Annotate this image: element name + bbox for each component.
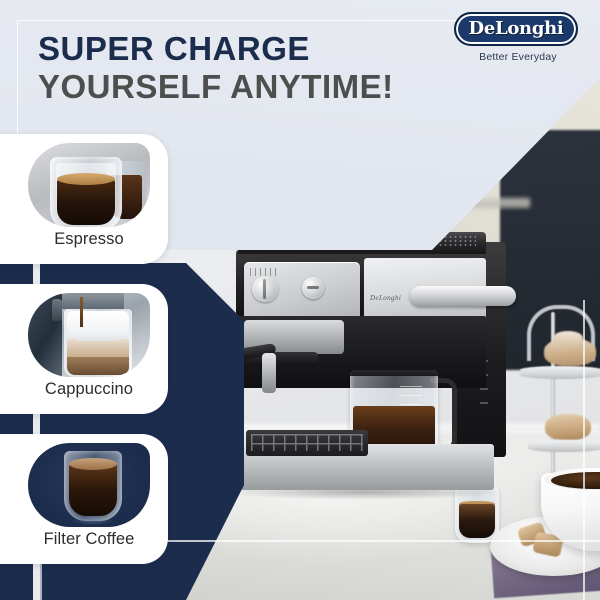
logo-wordmark: DeLonghi xyxy=(469,20,564,38)
power-knob[interactable] xyxy=(302,277,324,299)
espresso-cup-photo xyxy=(28,143,150,227)
coffee-spout xyxy=(52,299,62,321)
espresso-glass xyxy=(50,157,122,227)
filter-coffee-glass-photo xyxy=(28,443,150,527)
brand-logo: DeLonghi Better Everyday xyxy=(454,12,582,63)
steam-wand-tip xyxy=(262,353,276,393)
advertisement-banner: DeLonghi SUPER CHARGE YOURSELF ANYT xyxy=(0,0,600,600)
feature-card-espresso[interactable]: Espresso xyxy=(0,134,168,264)
feature-card-label: Cappuccino xyxy=(28,380,150,399)
frame-line-right xyxy=(583,300,585,600)
pouring-coffee-stream xyxy=(80,297,83,327)
logo-tagline: Better Everyday xyxy=(454,51,582,63)
feature-card-label: Espresso xyxy=(28,230,150,249)
cappuccino-glass-photo xyxy=(28,293,150,377)
filter-coffee-glass xyxy=(64,451,122,521)
cappuccino-glass xyxy=(64,309,132,377)
coffee-machine: DeLonghi xyxy=(218,232,498,496)
pastry-cream xyxy=(553,331,583,345)
logo-pill: DeLonghi xyxy=(454,12,578,46)
headline-line-2: YOURSELF ANYTIME! xyxy=(38,70,458,104)
cappuccino-foam-layer xyxy=(67,311,129,341)
drip-tray-grid xyxy=(251,434,363,451)
cappuccino-milk-layer xyxy=(67,339,129,357)
pastry-top xyxy=(544,338,596,366)
machine-lid-handle[interactable] xyxy=(410,286,516,306)
machine-brand-mark: DeLonghi xyxy=(370,294,401,302)
headline-line-1: SUPER CHARGE xyxy=(38,32,458,66)
filter-coffee-crema xyxy=(69,458,117,470)
carafe-lid xyxy=(350,370,438,376)
filter-coffee-liquid xyxy=(69,464,117,516)
machine-top-backdrop xyxy=(62,293,124,309)
pastry-stand-tier-1 xyxy=(520,366,600,379)
espresso-liquid xyxy=(57,179,115,225)
headline: SUPER CHARGE YOURSELF ANYTIME! xyxy=(38,32,458,103)
dial-markings xyxy=(250,268,280,276)
feature-card-cappuccino[interactable]: Cappuccino xyxy=(0,284,168,414)
selector-knob[interactable] xyxy=(252,276,278,302)
espresso-liquid xyxy=(459,504,495,538)
espresso-crema xyxy=(57,173,115,185)
feature-card-label: Filter Coffee xyxy=(28,530,150,549)
feature-card-filter-coffee[interactable]: Filter Coffee xyxy=(0,434,168,564)
cappuccino-coffee-layer xyxy=(67,357,129,375)
pastry-stand-tier-2 xyxy=(528,440,600,452)
glass-reflection xyxy=(72,517,114,525)
